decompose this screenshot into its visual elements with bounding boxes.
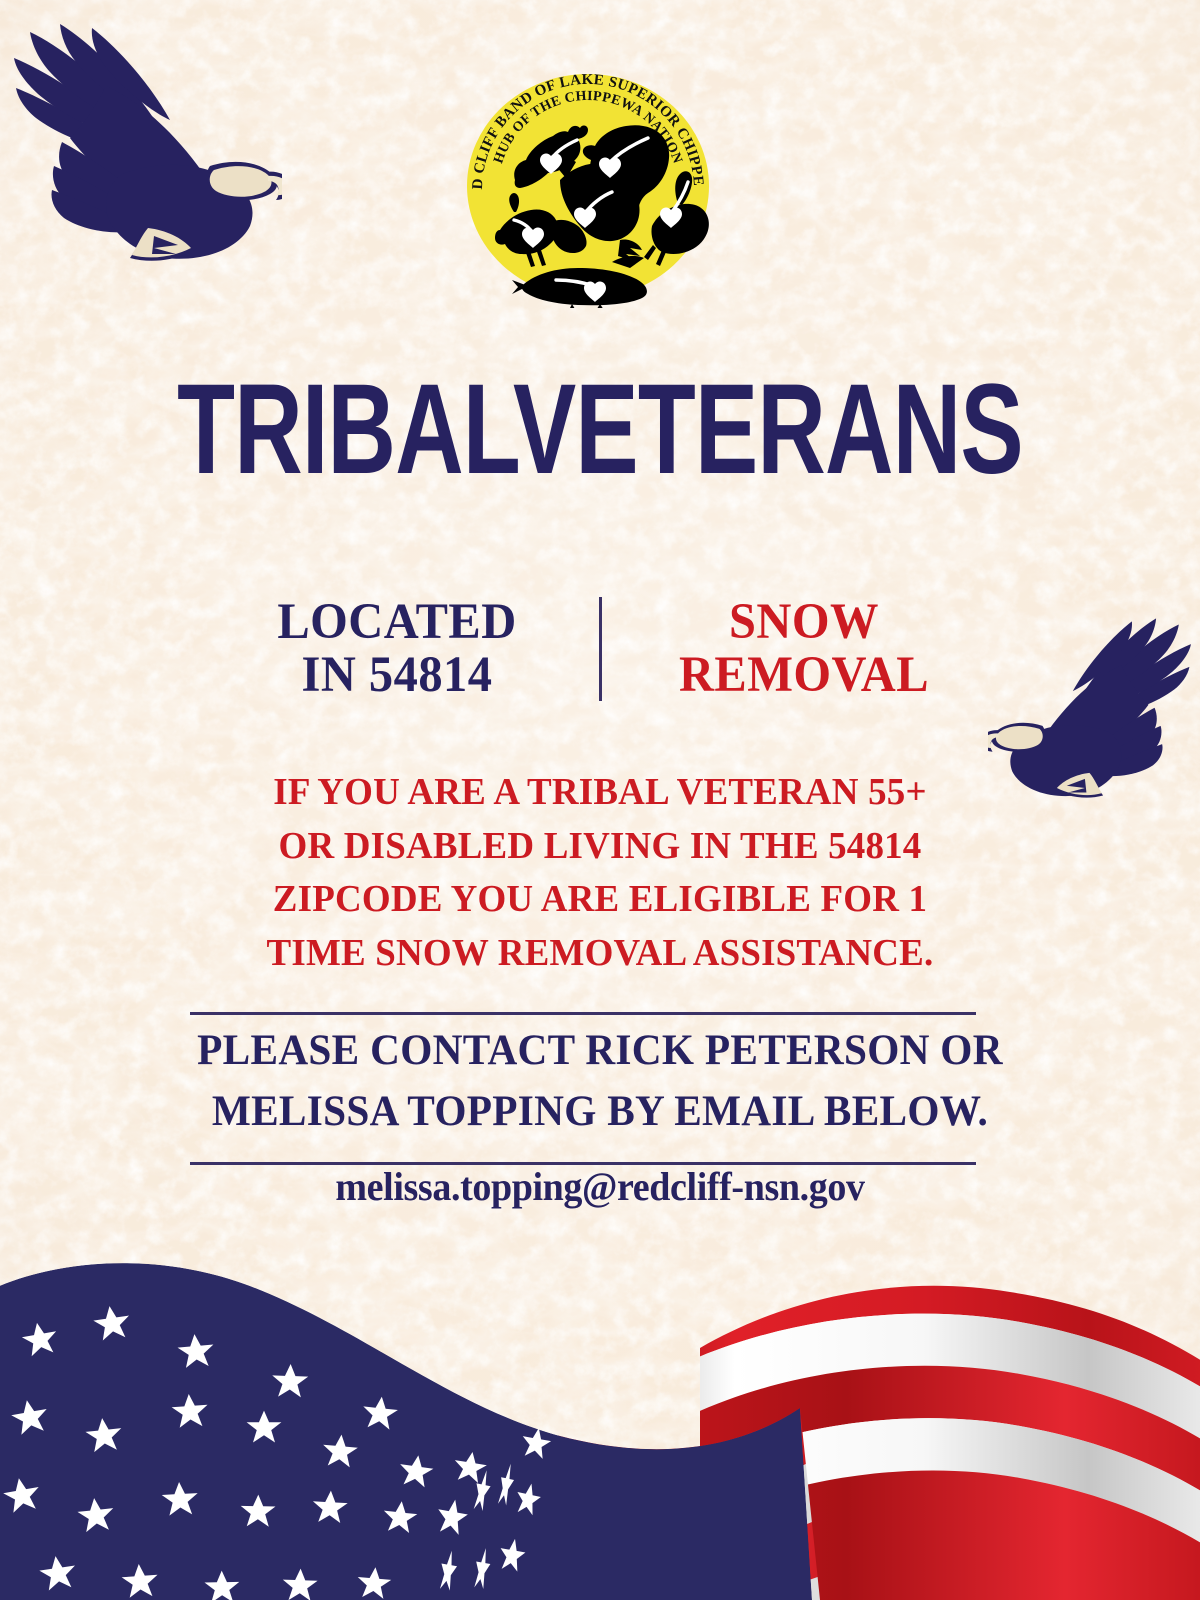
snow-removal-line-2: REMOVAL — [614, 649, 994, 702]
tribal-seal-logo: RED CLIFF BAND OF LAKE SUPERIOR CHIPPEWA… — [452, 62, 724, 308]
eligibility-text: IF YOU ARE A TRIBAL VETERAN 55+ OR DISAB… — [168, 766, 1032, 980]
located-line-1: LOCATED — [207, 596, 587, 649]
snow-removal-line-1: SNOW — [614, 596, 994, 649]
page-title: TRIBALVETERANS — [156, 366, 1044, 494]
eligibility-line-3: ZIPCODE YOU ARE ELIGIBLE FOR 1 — [168, 873, 1032, 927]
band-divider — [599, 597, 602, 701]
eligibility-line-4: TIME SNOW REMOVAL ASSISTANCE. — [168, 927, 1032, 981]
poster-canvas: RED CLIFF BAND OF LAKE SUPERIOR CHIPPEWA… — [0, 0, 1200, 1600]
eligibility-line-1: IF YOU ARE A TRIBAL VETERAN 55+ — [168, 766, 1032, 820]
eagle-left-icon — [2, 14, 282, 276]
contact-line-2: MELISSA TOPPING BY EMAIL BELOW. — [149, 1081, 1051, 1142]
eligibility-line-2: OR DISABLED LIVING IN THE 54814 — [168, 820, 1032, 874]
snow-removal-column: SNOW REMOVAL — [614, 596, 994, 702]
located-column: LOCATED IN 54814 — [207, 596, 587, 702]
contact-text: PLEASE CONTACT RICK PETERSON OR MELISSA … — [149, 1020, 1051, 1142]
divider-rule-top — [190, 1012, 976, 1015]
usa-flag-graphic — [0, 1200, 1200, 1600]
flag-canton — [0, 1263, 812, 1600]
contact-line-1: PLEASE CONTACT RICK PETERSON OR — [149, 1020, 1051, 1081]
located-line-2: IN 54814 — [207, 649, 587, 702]
